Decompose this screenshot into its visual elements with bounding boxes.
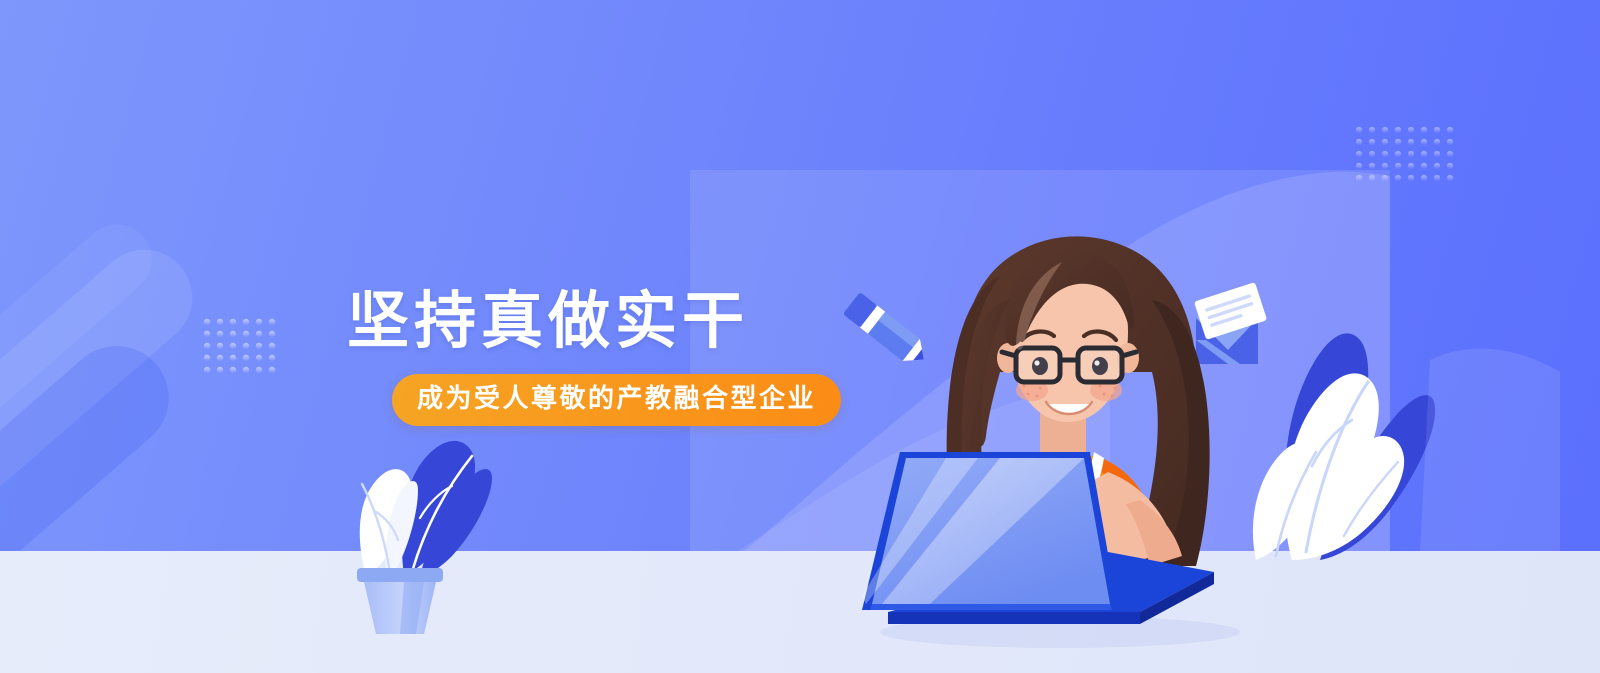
- dot-grid-left-icon: [203, 318, 287, 380]
- tagline-wrapper: 成为受人尊敬的产教融合型企业: [392, 374, 867, 426]
- dot-grid-right-icon: [1355, 126, 1467, 188]
- hero-banner: 坚持真做实干 成为受人尊敬的产教融合型企业: [0, 0, 1600, 673]
- tagline-badge: 成为受人尊敬的产教融合型企业: [392, 374, 841, 426]
- floor-surface: [0, 551, 1600, 673]
- page-title: 坚持真做实干: [347, 288, 867, 355]
- hero-copy-block: 坚持真做实干 成为受人尊敬的产教融合型企业: [347, 288, 867, 426]
